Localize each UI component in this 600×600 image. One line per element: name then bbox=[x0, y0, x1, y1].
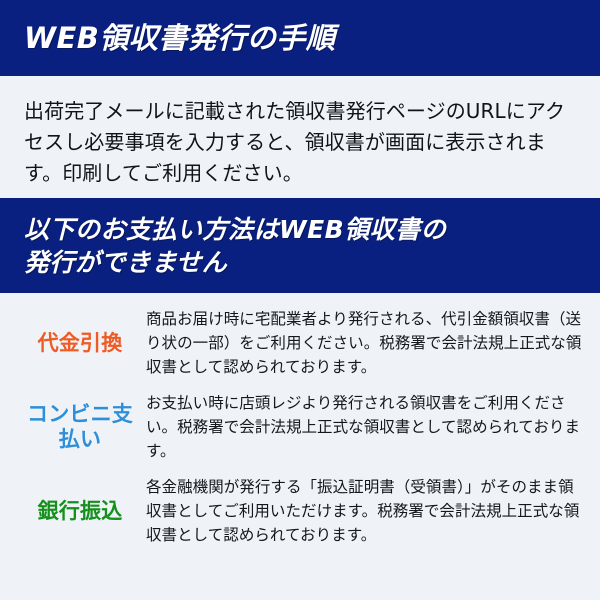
payment-methods-list: 代金引換 商品お届け時に宅配業者より発行される、代引金額領収書（送り状の一部）を… bbox=[0, 293, 600, 547]
notice-title: 以下のお支払い方法はWEB領収書の 発行ができません bbox=[24, 213, 446, 279]
notice-title-line-1: 以下のお支払い方法はWEB領収書の bbox=[24, 213, 446, 246]
payment-method-label-cod: 代金引換 bbox=[18, 331, 142, 356]
payment-method-description-bank-transfer: 各金融機関が発行する「振込証明書（受領書）」がそのまま領収書としてご利用いただけ… bbox=[142, 475, 586, 547]
notice-header-bar: 以下のお支払い方法はWEB領収書の 発行ができません bbox=[0, 198, 600, 293]
payment-method-row-bank-transfer: 銀行振込 各金融機関が発行する「振込証明書（受領書）」がそのまま領収書としてご利… bbox=[0, 475, 600, 547]
notice-title-line-2: 発行ができません bbox=[24, 246, 446, 279]
payment-method-description-konbini: お支払い時に店頭レジより発行される領収書をご利用ください。税務署で会計法規上正式… bbox=[142, 391, 586, 463]
primary-header-bar: WEB領収書発行の手順 bbox=[0, 0, 600, 76]
payment-method-row-cod: 代金引換 商品お届け時に宅配業者より発行される、代引金額領収書（送り状の一部）を… bbox=[0, 307, 600, 379]
intro-paragraph: 出荷完了メールに記載された領収書発行ページのURLにアクセスし必要事項を入力する… bbox=[24, 96, 578, 189]
payment-method-description-text-konbini: お支払い時に店頭レジより発行される領収書をご利用ください。税務署で会計法規上正式… bbox=[146, 391, 586, 463]
receipt-info-page: WEB領収書発行の手順 出荷完了メールに記載された領収書発行ページのURLにアク… bbox=[0, 0, 600, 600]
page-title: WEB領収書発行の手順 bbox=[24, 21, 335, 55]
payment-method-description-text-bank-transfer: 各金融機関が発行する「振込証明書（受領書）」がそのまま領収書としてご利用いただけ… bbox=[146, 475, 586, 547]
payment-method-row-konbini: コンビニ支払い お支払い時に店頭レジより発行される領収書をご利用ください。税務署… bbox=[0, 391, 600, 463]
payment-method-label-konbini: コンビニ支払い bbox=[18, 402, 142, 452]
payment-method-description-text-cod: 商品お届け時に宅配業者より発行される、代引金額領収書（送り状の一部）をご利用くだ… bbox=[146, 307, 586, 379]
intro-section: 出荷完了メールに記載された領収書発行ページのURLにアクセスし必要事項を入力する… bbox=[0, 76, 600, 189]
payment-method-label-bank-transfer: 銀行振込 bbox=[18, 499, 142, 524]
payment-method-description-cod: 商品お届け時に宅配業者より発行される、代引金額領収書（送り状の一部）をご利用くだ… bbox=[142, 307, 586, 379]
